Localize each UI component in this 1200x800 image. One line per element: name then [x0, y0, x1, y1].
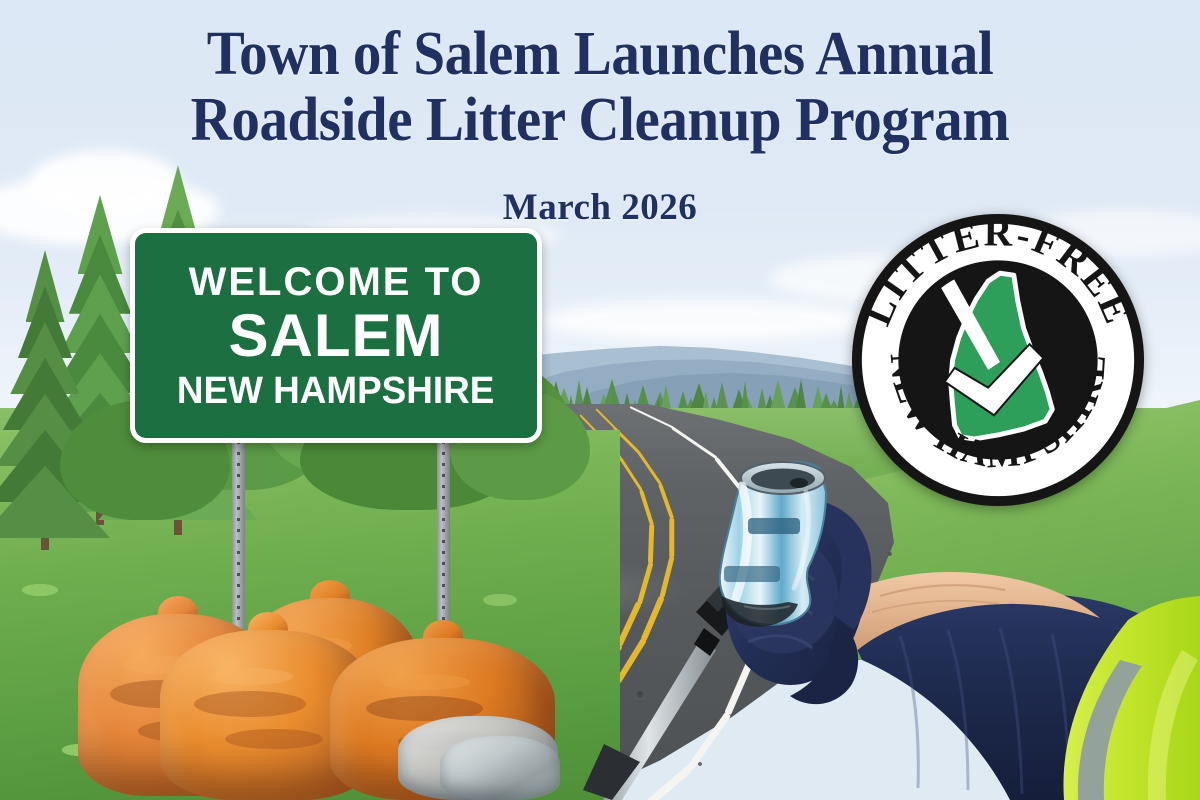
edge-line-white [686, 712, 731, 771]
edge-line-white [751, 596, 769, 654]
edge-line-white [645, 765, 693, 800]
headline-line-1: Town of Salem Launches Annual [207, 20, 994, 88]
sign-post-right [437, 430, 450, 635]
edge-line-white [715, 457, 750, 500]
post-perforations [442, 430, 445, 635]
edge-line-white [725, 652, 758, 716]
poster: WELCOME TO SALEM NEW HAMPSHIRE [0, 0, 1200, 800]
bag-crease [225, 729, 324, 750]
sign-line-state: NEW HAMPSHIRE [177, 372, 494, 410]
headline-line-2: Roadside Litter Cleanup Program [48, 88, 1152, 154]
edge-line-white [671, 426, 717, 459]
subtitle-date: March 2026 [0, 186, 1200, 229]
sign-line-welcome: WELCOME TO [189, 262, 484, 302]
bag-crease [380, 674, 470, 690]
litter-free-nh-badge: LITTER-FREE NEW HAMPSHIRE [850, 212, 1146, 508]
sign-line-city: SALEM [229, 306, 444, 366]
welcome-road-sign: WELCOME TO SALEM NEW HAMPSHIRE [130, 228, 542, 443]
edge-line-white [630, 406, 674, 428]
edge-line-white [761, 546, 768, 597]
edge-line-white [746, 497, 766, 547]
page-title: Town of Salem Launches Annual Roadside L… [48, 22, 1152, 153]
clear-recycling-bag [440, 736, 560, 800]
cloud [540, 300, 870, 342]
